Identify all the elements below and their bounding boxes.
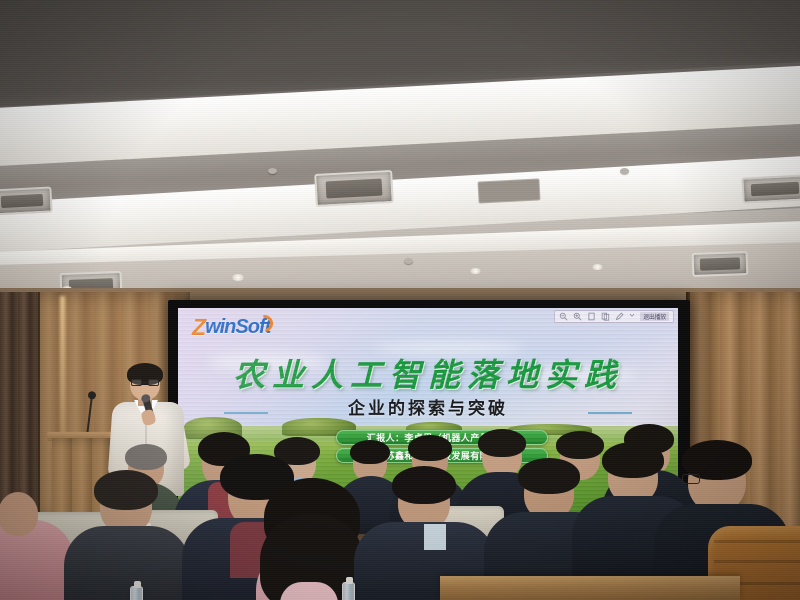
downlight-icon	[470, 268, 481, 274]
sprinkler-icon	[620, 168, 629, 174]
water-bottle	[130, 586, 143, 600]
downlight-icon	[232, 274, 244, 281]
sprinkler-icon	[404, 258, 413, 264]
zoom-out-icon[interactable]	[559, 312, 568, 321]
ac-vent-icon	[0, 186, 53, 215]
zwinsoft-logo: ZwinSoft	[192, 314, 270, 341]
audience	[0, 400, 800, 600]
slide-player-toolbar[interactable]: 退出播放	[554, 310, 674, 323]
exit-playback-label[interactable]: 退出播放	[640, 312, 669, 321]
water-bottle	[342, 582, 355, 600]
pen-icon[interactable]	[615, 312, 624, 321]
ac-vent-icon	[692, 251, 749, 277]
sprinkler-icon	[268, 168, 277, 174]
ac-vent-icon	[741, 174, 800, 203]
downlight-icon	[592, 264, 603, 270]
glasses-icon	[131, 379, 159, 386]
logo-first-letter: Z	[192, 314, 205, 341]
ac-vent-icon	[314, 170, 394, 207]
chevron-down-icon[interactable]	[629, 312, 635, 321]
glasses-icon	[682, 474, 700, 484]
page-icon[interactable]	[587, 312, 596, 321]
zoom-in-icon[interactable]	[573, 312, 582, 321]
photo-scene: ZwinSoft 退出播放 农业人工	[0, 0, 800, 600]
slide-title: 农业人工智能落地实践	[178, 350, 678, 396]
ceiling-access-panel	[477, 178, 540, 203]
ceiling	[0, 0, 800, 300]
page-copy-icon[interactable]	[601, 312, 610, 321]
desk	[440, 576, 740, 600]
